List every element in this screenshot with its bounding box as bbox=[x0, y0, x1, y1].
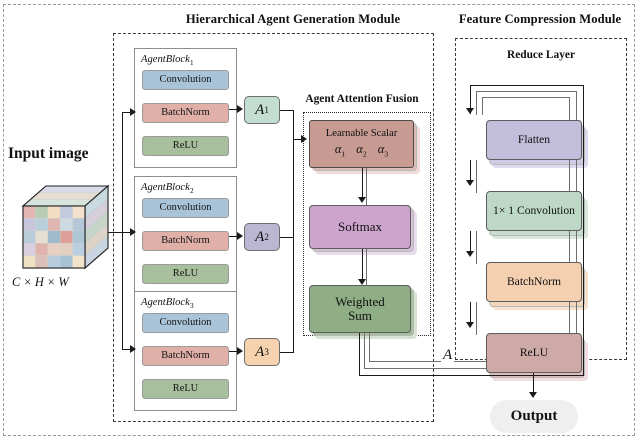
arrow-relu-to-output bbox=[529, 392, 537, 398]
fusion-module-title: Agent Attention Fusion bbox=[287, 93, 437, 105]
diagram-canvas: Hierarchical Agent Generation Module Fea… bbox=[0, 0, 640, 441]
alpha-3-index: 3 bbox=[384, 150, 388, 159]
a2-symbol: A bbox=[255, 229, 264, 246]
learnable-scalar-box: Learnable Scalar α1 α2 α3 bbox=[309, 120, 414, 168]
edge-a2-to-fusionbus bbox=[280, 237, 294, 238]
agent-block-1-index: 1 bbox=[190, 58, 194, 67]
agent-block-3-relu: ReLU bbox=[142, 379, 229, 399]
edge-batchnorm-to-relu-ghost bbox=[476, 302, 477, 335]
edge-scalar-to-softmax bbox=[362, 168, 363, 200]
agent-block-1-batchnorm: BatchNorm bbox=[142, 103, 229, 123]
arrow-conv-to-batchnorm bbox=[466, 251, 474, 257]
reduce-relu-box: ReLU bbox=[486, 333, 582, 373]
arrow-block3-to-a3 bbox=[237, 347, 243, 355]
edge-fusion-bus-vertical bbox=[293, 110, 294, 353]
arrow-to-learnable-scalar bbox=[301, 135, 307, 143]
a1-symbol: A bbox=[255, 102, 264, 119]
edge-a-into-flatten-3 bbox=[482, 97, 483, 115]
arrow-to-block2 bbox=[130, 228, 136, 236]
edge-a-top-1 bbox=[470, 85, 584, 86]
input-image-cube bbox=[10, 182, 114, 282]
agent-block-1-title: AgentBlock1 bbox=[141, 54, 194, 67]
arrow-block2-to-a2 bbox=[237, 232, 243, 240]
edge-a-into-flatten-2 bbox=[476, 91, 477, 115]
agent-block-3-index: 3 bbox=[190, 301, 194, 310]
edge-a1-to-fusionbus bbox=[280, 110, 294, 111]
agent-block-1-name: AgentBlock bbox=[141, 54, 190, 65]
alpha-1-index: 1 bbox=[341, 150, 345, 159]
agent-block-3-title: AgentBlock3 bbox=[141, 297, 194, 310]
edge-a-top-2 bbox=[476, 91, 577, 92]
softmax-box: Softmax bbox=[309, 205, 411, 249]
agent-block-2-batchnorm: BatchNorm bbox=[142, 231, 229, 251]
fusion-output-a-label: A bbox=[441, 347, 454, 364]
agent-block-2-index: 2 bbox=[190, 186, 194, 195]
edge-bus-vertical bbox=[122, 112, 123, 350]
arrow-to-block3 bbox=[130, 345, 136, 353]
alpha-2-index: 2 bbox=[363, 150, 367, 159]
weighted-sum-box: Weighted Sum bbox=[309, 285, 411, 333]
agent-block-1-convolution: Convolution bbox=[142, 70, 229, 90]
hierarchical-module-title: Hierarchical Agent Generation Module bbox=[148, 12, 438, 27]
weighted-sum-line2: Sum bbox=[335, 309, 385, 323]
arrow-batchnorm-to-relu bbox=[466, 322, 474, 328]
arrow-a-into-flatten bbox=[466, 108, 474, 114]
cube-front-face bbox=[23, 206, 85, 268]
edge-a-down-3 bbox=[369, 333, 370, 362]
arrow-block1-to-a1 bbox=[237, 105, 243, 113]
edge-a-down-1 bbox=[359, 333, 360, 376]
agent-block-2-name: AgentBlock bbox=[141, 182, 190, 193]
a2-index: 2 bbox=[264, 232, 269, 242]
alpha-2: α2 bbox=[356, 142, 366, 158]
input-image-title: Input image bbox=[8, 145, 89, 163]
flatten-box: Flatten bbox=[486, 120, 582, 160]
edge-a3-to-fusionbus bbox=[280, 352, 294, 353]
reduce-batchnorm-box: BatchNorm bbox=[486, 262, 582, 302]
conv1x1-box: 1× 1 Convolution bbox=[486, 191, 582, 231]
edge-a-top-3 bbox=[482, 97, 570, 98]
agent-block-2-convolution: Convolution bbox=[142, 198, 229, 218]
edge-conv-to-batchnorm-ghost bbox=[476, 231, 477, 264]
alpha-3: α3 bbox=[378, 142, 388, 158]
a3-index: 3 bbox=[264, 347, 269, 357]
edge-a-right-1 bbox=[359, 375, 584, 376]
weighted-sum-label: Weighted Sum bbox=[335, 295, 385, 323]
arrow-scalar-to-softmax bbox=[358, 197, 366, 203]
learnable-scalar-alphas: α1 α2 α3 bbox=[335, 142, 388, 158]
alpha-1: α1 bbox=[335, 142, 345, 158]
agent-output-a3: A3 bbox=[244, 338, 280, 366]
edge-a-down-2 bbox=[364, 333, 365, 369]
edge-softmax-to-weightedsum bbox=[362, 249, 363, 282]
a1-index: 1 bbox=[264, 105, 269, 115]
compression-module-title: Feature Compression Module bbox=[445, 12, 635, 27]
edge-a-up-1 bbox=[583, 85, 584, 376]
arrow-to-block1 bbox=[130, 108, 136, 116]
edge-flatten-to-conv-ghost bbox=[476, 160, 477, 193]
weighted-sum-line1: Weighted bbox=[335, 295, 385, 309]
output-pill: Output bbox=[490, 400, 578, 433]
arrow-flatten-to-conv bbox=[466, 180, 474, 186]
agent-block-2-relu: ReLU bbox=[142, 264, 229, 284]
a3-symbol: A bbox=[255, 344, 264, 361]
agent-block-1-relu: ReLU bbox=[142, 136, 229, 156]
learnable-scalar-label: Learnable Scalar bbox=[326, 129, 397, 140]
reduce-layer-title: Reduce Layer bbox=[455, 49, 627, 61]
agent-block-3-batchnorm: BatchNorm bbox=[142, 346, 229, 366]
agent-block-2-title: AgentBlock2 bbox=[141, 182, 194, 195]
agent-output-a1: A1 bbox=[244, 96, 280, 124]
agent-block-3-convolution: Convolution bbox=[142, 313, 229, 333]
agent-block-3-name: AgentBlock bbox=[141, 297, 190, 308]
agent-output-a2: A2 bbox=[244, 223, 280, 251]
